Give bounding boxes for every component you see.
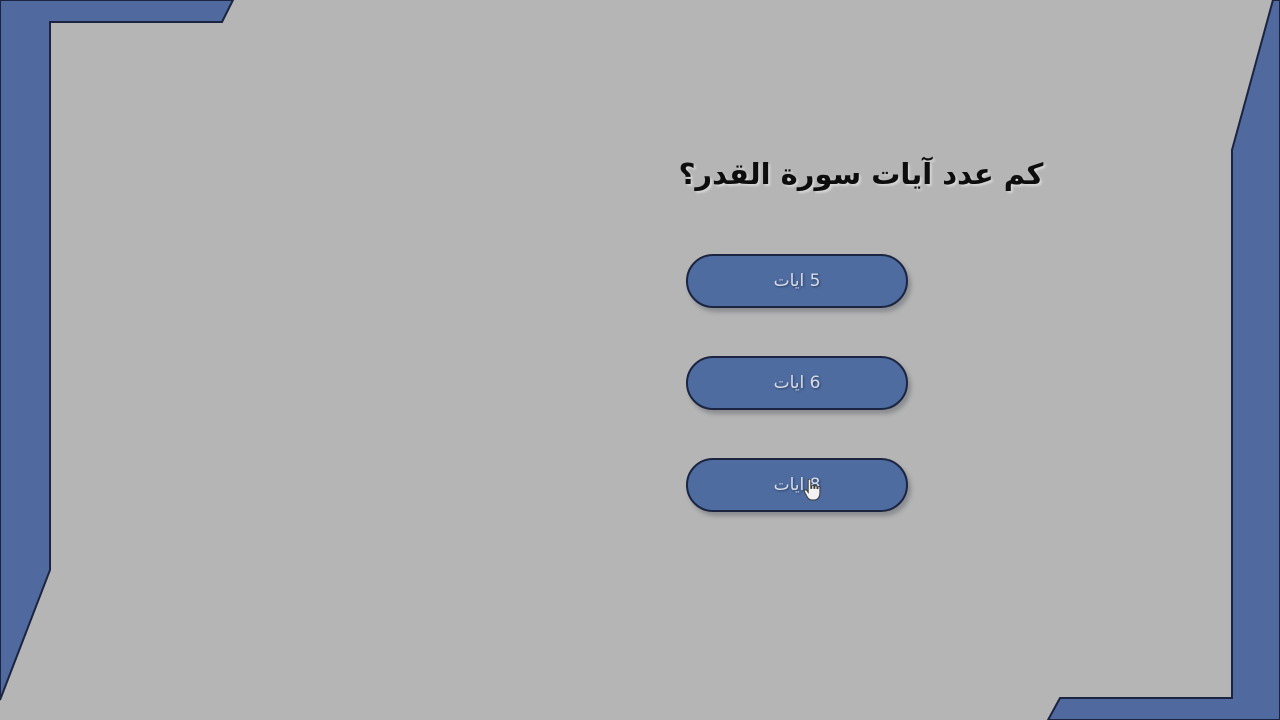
frame-bottom-right xyxy=(1048,0,1280,720)
quiz-screen: كم عدد آيات سورة القدر؟ 5 ايات 6 ايات 8 … xyxy=(0,0,1280,720)
answer-option-3-label: 8 ايات xyxy=(774,475,821,495)
answer-option-1[interactable]: 5 ايات xyxy=(686,254,908,308)
answer-option-3[interactable]: 8 ايات xyxy=(686,458,908,512)
answer-options-list: 5 ايات 6 ايات 8 ايات xyxy=(686,254,908,512)
answer-option-2[interactable]: 6 ايات xyxy=(686,356,908,410)
question-text: كم عدد آيات سورة القدر؟ xyxy=(561,157,1161,191)
answer-option-1-label: 5 ايات xyxy=(774,271,821,291)
frame-top-left xyxy=(0,0,233,700)
answer-option-2-label: 6 ايات xyxy=(774,373,821,393)
decorative-frame xyxy=(0,0,1280,720)
